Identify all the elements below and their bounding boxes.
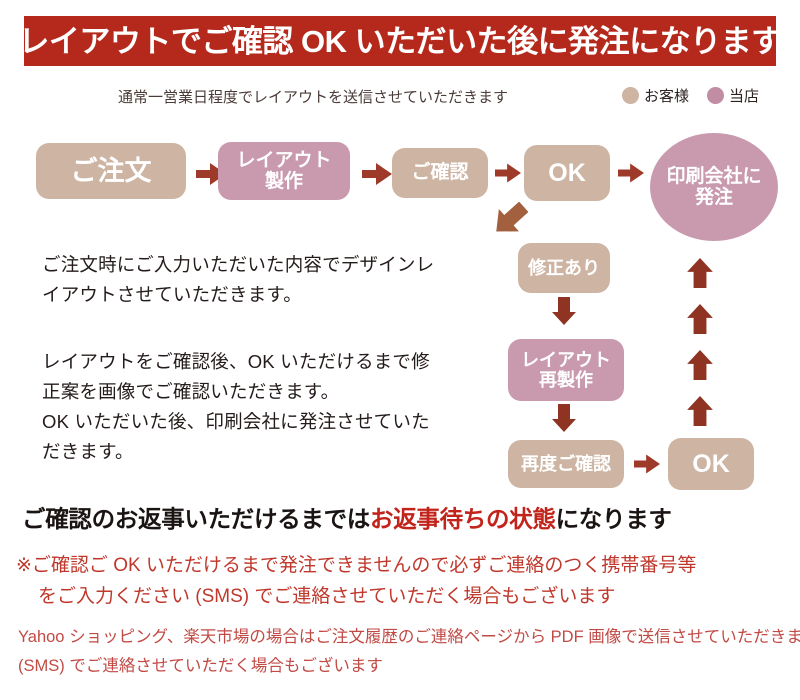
flow-node-revision-label: 修正あり [528, 258, 600, 278]
arrow-up-icon [686, 258, 714, 288]
subtitle-text: 通常一営業日程度でレイアウトを送信させていただきます [118, 86, 508, 107]
body-paragraph-2-line-4: だきます。 [42, 437, 512, 467]
banner-title: レイアウトでご確認 OK いただいた後に発注になります [18, 26, 781, 57]
legend-label-store: 当店 [729, 85, 759, 106]
flow-node-confirm-label: ご確認 [411, 162, 468, 183]
legend-item-customer: お客様 [622, 85, 689, 106]
flow-node-layout-remake: レイアウト 再製作 [508, 339, 624, 401]
body-paragraph-2-line-3: OK いただいた後、印刷会社に発注させていた [42, 407, 512, 437]
emphasis-highlight: お返事待ちの状態 [370, 506, 556, 532]
arrow-right-icon [495, 163, 521, 183]
note-pink-line-2: (SMS) でご連絡させていただく場合もございます [18, 653, 383, 680]
flow-node-layout-make: レイアウト 製作 [218, 142, 350, 200]
body-paragraph-1-line-2: イアウトさせていただきます。 [42, 280, 512, 310]
flow-node-layout-make-label: レイアウト 製作 [236, 150, 331, 193]
arrow-down-icon [552, 297, 576, 325]
arrow-right-icon [634, 454, 660, 474]
arrow-up-icon [686, 350, 714, 380]
flow-node-confirm: ご確認 [392, 148, 488, 198]
note-pink-line-1: Yahoo ショッピング、楽天市場の場合はご注文履歴のご連絡ページから PDF … [18, 624, 800, 651]
legend-item-store: 当店 [707, 85, 759, 106]
arrow-up-icon [686, 396, 714, 426]
emphasis-after: になります [556, 506, 672, 532]
arrow-right-icon [362, 163, 392, 185]
circle-dot-icon [622, 87, 639, 104]
circle-dot-icon [707, 87, 724, 104]
arrow-down-icon [552, 404, 576, 432]
note-red-line-1: ※ご確認ご OK いただけるまで発注できませんので必ずご連絡のつく携帯番号等 [16, 551, 696, 581]
flow-node-ok-bottom-label: OK [692, 450, 730, 478]
header-banner: レイアウトでご確認 OK いただいた後に発注になります [24, 16, 776, 66]
note-red-line-2: をご入力ください (SMS) でご連絡させていただく場合もございます [38, 582, 615, 612]
flow-node-layout-remake-label: レイアウト 再製作 [521, 350, 611, 390]
flow-node-print-order: 印刷会社に 発注 [650, 133, 778, 241]
flow-node-order-label: ご注文 [71, 156, 152, 186]
body-paragraph-2: レイアウトをご確認後、OK いただけるまで修 正案を画像でご確認いただきます。 … [42, 347, 512, 467]
arrow-right-icon [618, 163, 644, 183]
body-paragraph-1: ご注文時にご入力いただいた内容でデザインレ イアウトさせていただきます。 [42, 250, 512, 310]
flow-node-order: ご注文 [36, 143, 186, 199]
legend: お客様 当店 [622, 85, 769, 106]
flow-node-reconfirm-label: 再度ご確認 [521, 454, 611, 474]
emphasis-line: ご確認のお返事いただけるまではお返事待ちの状態になります [22, 500, 782, 534]
flow-node-revision: 修正あり [518, 243, 610, 293]
flow-node-reconfirm: 再度ご確認 [508, 440, 624, 488]
body-paragraph-1-line-1: ご注文時にご入力いただいた内容でデザインレ [42, 250, 512, 280]
layout-confirmation-infographic: レイアウトでご確認 OK いただいた後に発注になります 通常一営業日程度でレイア… [0, 0, 800, 700]
arrow-down-right-icon [494, 202, 528, 240]
arrow-up-icon [686, 304, 714, 334]
legend-label-customer: お客様 [644, 85, 689, 106]
body-paragraph-2-line-2: 正案を画像でご確認いただきます。 [42, 377, 512, 407]
emphasis-before: ご確認のお返事いただけるまでは [22, 506, 370, 532]
body-paragraph-2-line-1: レイアウトをご確認後、OK いただけるまで修 [42, 347, 512, 377]
flow-node-ok-bottom: OK [668, 438, 754, 490]
flow-node-print-order-label: 印刷会社に 発注 [666, 166, 761, 209]
flow-node-ok-top-label: OK [548, 159, 586, 187]
flow-node-ok-top: OK [524, 145, 610, 201]
